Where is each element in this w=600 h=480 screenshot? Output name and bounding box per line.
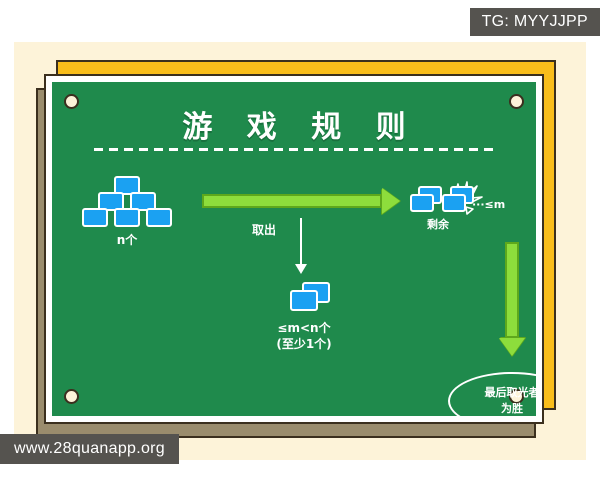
start-pile-label: n个: [82, 232, 172, 248]
remaining-card: [410, 194, 434, 212]
remaining-card: [442, 194, 466, 212]
right-arrow-icon: [202, 194, 382, 208]
result-line1: 最后取光者: [485, 385, 537, 401]
start-card: [82, 208, 108, 227]
remaining-label: 剩余: [408, 218, 468, 233]
down-thin-arrow-line-icon: [300, 218, 302, 266]
poster-background: 游 戏 规 则: [14, 42, 586, 460]
down-arrow-head-icon: [499, 338, 525, 356]
down-thin-arrow-head-icon: [295, 264, 307, 274]
taken-count-line2: (至少1个): [250, 336, 358, 352]
take-out-label: 取出: [232, 222, 296, 238]
page-title: 游 戏 规 则: [52, 102, 536, 146]
taken-card-front: [290, 290, 318, 311]
remaining-note: ···≤m: [472, 198, 536, 213]
telegram-watermark-badge: TG: MYYJJPP: [470, 8, 600, 36]
chalkboard-surface: 游 戏 规 则: [52, 82, 536, 416]
site-watermark-badge: www.28quanapp.org: [0, 434, 179, 464]
right-arrow-head-icon: [382, 188, 400, 214]
result-badge: 最后取光者 为胜: [448, 372, 536, 416]
taken-count-line1: ≤m<n个: [250, 320, 358, 336]
start-card: [146, 208, 172, 227]
title-dashed-rule: [94, 148, 494, 151]
start-card: [114, 208, 140, 227]
result-line2: 为胜: [501, 401, 523, 416]
chalkboard-frame: 游 戏 规 则: [36, 60, 556, 430]
down-arrow-icon: [505, 242, 519, 338]
screw-bottom-left-icon: [64, 389, 79, 404]
